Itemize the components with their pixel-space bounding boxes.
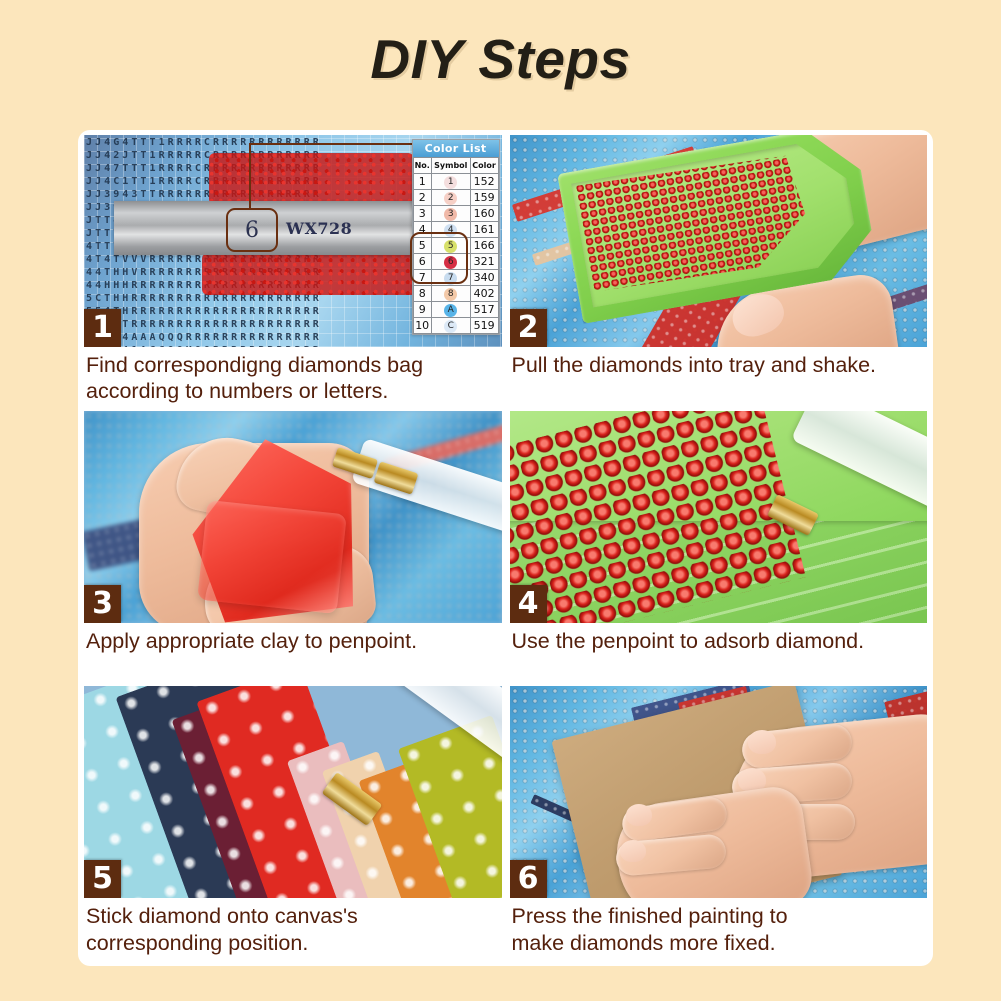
color-list-color: 340 (470, 270, 498, 286)
step-4-photo: 4 (510, 411, 928, 623)
color-list-title: Color List (413, 140, 499, 157)
callout-line-vertical (249, 143, 251, 209)
color-list-no: 8 (413, 286, 431, 302)
color-list-row: 22159 (413, 190, 498, 206)
left-nail-2 (620, 840, 646, 862)
color-list-color: 321 (470, 254, 498, 270)
step-1-badge: 1 (84, 309, 121, 347)
bag-number-callout: 6 (226, 208, 278, 252)
color-list-no: 1 (413, 174, 431, 190)
color-list-color: 152 (470, 174, 498, 190)
color-list-header-row: No. Symbol Color (413, 158, 498, 174)
step-4-badge: 4 (510, 585, 547, 623)
color-list-color: 166 (470, 238, 498, 254)
page-title: DIY Steps (0, 0, 1001, 91)
step-2-photo: 2 (510, 135, 928, 347)
steps-grid: JJ4G4TTT1RRRRCRRRRRRRRRRRR JJ42JTT1RRRRR… (78, 130, 933, 966)
color-list-panel: Color List No. Symbol Color 111522215 (412, 139, 500, 335)
step-4-photo-content (510, 411, 928, 623)
step-1-photo: JJ4G4TTT1RRRRCRRRRRRRRRRRR JJ42JTT1RRRRR… (84, 135, 502, 347)
color-list-symbol: 1 (431, 174, 470, 190)
step-6-badge: 6 (510, 860, 547, 898)
step-3-photo-content (84, 411, 502, 623)
color-list-color: 517 (470, 302, 498, 318)
callout-line-horizontal (249, 143, 424, 145)
diy-steps-page: DIY Steps JJ4G4TTT1RRRRCRRRRRRRRRRRR JJ4… (0, 0, 1001, 1001)
step-3-caption: Apply appropriate clay to penpoint. (84, 623, 502, 654)
step-2-caption: Pull the diamonds into tray and shake. (510, 347, 928, 378)
step-1: JJ4G4TTT1RRRRCRRRRRRRRRRRR JJ42JTT1RRRRR… (84, 135, 502, 409)
col-header-color: Color (470, 158, 498, 174)
color-list-color: 519 (470, 318, 498, 334)
color-list-no: 10 (413, 318, 431, 334)
color-list-symbol: 2 (431, 190, 470, 206)
col-header-symbol: Symbol (431, 158, 470, 174)
step-2-photo-content (510, 135, 928, 347)
color-symbol-swatch: 1 (444, 176, 457, 189)
col-header-no: No. (413, 158, 431, 174)
bag-code-label: WX728 (286, 219, 352, 238)
color-list-symbol: 3 (431, 206, 470, 222)
color-symbol-swatch: 3 (444, 208, 457, 221)
step-5-badge: 5 (84, 860, 121, 898)
color-list-row: 10C519 (413, 318, 498, 334)
color-list-color: 161 (470, 222, 498, 238)
step-2: 2 Pull the diamonds into tray and shake. (510, 135, 928, 409)
colored-beads-field (84, 686, 502, 898)
step-1-caption: Find correspondigng diamonds bag accordi… (84, 347, 502, 404)
color-list-row: 33160 (413, 206, 498, 222)
right-nail-1 (748, 730, 776, 754)
red-diamond-cluster-top (209, 153, 414, 205)
color-symbol-swatch: 2 (444, 192, 457, 205)
color-list-row: 9A517 (413, 302, 498, 318)
color-list-no: 3 (413, 206, 431, 222)
steps-card: JJ4G4TTT1RRRRCRRRRRRRRRRRR JJ42JTT1RRRRR… (78, 130, 933, 966)
color-symbol-swatch: A (444, 304, 457, 317)
step-5-caption: Stick diamond onto canvas's correspondin… (84, 898, 502, 955)
color-list-row: 88402 (413, 286, 498, 302)
red-diamond-cluster-bottom (202, 253, 417, 295)
color-symbol-swatch: C (444, 320, 457, 333)
color-symbol-swatch: 8 (444, 288, 457, 301)
step-6-photo-content: e Book (510, 686, 928, 898)
color-list-symbol: A (431, 302, 470, 318)
color-list-no: 9 (413, 302, 431, 318)
color-list-row: 11152 (413, 174, 498, 190)
step-3: 3 Apply appropriate clay to penpoint. (84, 411, 502, 685)
step-3-photo: 3 (84, 411, 502, 623)
color-list-symbol: C (431, 318, 470, 334)
step-4-caption: Use the penpoint to adsorb diamond. (510, 623, 928, 654)
step-6-photo: e Book 6 (510, 686, 928, 898)
color-list-symbol: 8 (431, 286, 470, 302)
color-list-color: 402 (470, 286, 498, 302)
step-6-caption: Press the finished painting to make diam… (510, 898, 928, 955)
color-list-highlight-box (410, 232, 468, 284)
step-5-photo: 5 (84, 686, 502, 898)
step-1-photo-content: JJ4G4TTT1RRRRCRRRRRRRRRRRR JJ42JTT1RRRRR… (84, 135, 502, 347)
step-2-badge: 2 (510, 309, 547, 347)
color-list-no: 2 (413, 190, 431, 206)
step-5: 5 Stick diamond onto canvas's correspond… (84, 686, 502, 960)
color-list-color: 159 (470, 190, 498, 206)
left-nail-1 (626, 804, 652, 826)
color-list-color: 160 (470, 206, 498, 222)
step-3-badge: 3 (84, 585, 121, 623)
step-6: e Book 6 Press th (510, 686, 928, 960)
step-4: 4 Use the penpoint to adsorb diamond. (510, 411, 928, 685)
step-5-photo-content (84, 686, 502, 898)
clay-fold (197, 500, 347, 614)
